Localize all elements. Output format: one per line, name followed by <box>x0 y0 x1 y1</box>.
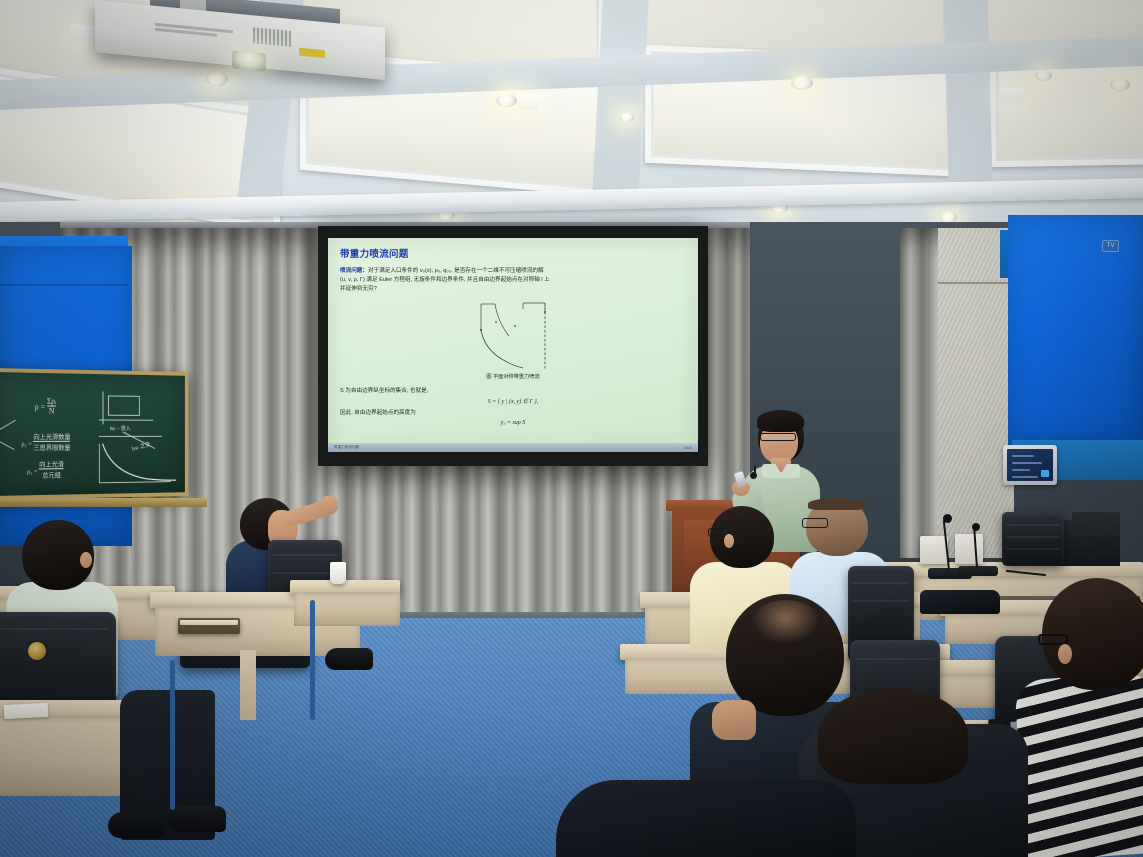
notebook-pages <box>180 620 238 625</box>
shoe-left-2 <box>168 806 226 832</box>
projector-lens <box>232 51 266 72</box>
chalkboard-formula-1: ρ = ΣρᵢN <box>35 397 56 416</box>
slide-title: 带重力喷流问题 <box>340 246 686 260</box>
audience-4-glasses <box>802 518 828 528</box>
slide-figure-caption: 图 平面对称带重力喷流 <box>340 373 686 380</box>
projector-vent-grille <box>253 27 291 47</box>
slide-paragraph-1: S 为自由边界纵坐标的集合, 也就是, <box>340 386 686 394</box>
front-table-chair[interactable] <box>1002 512 1064 566</box>
audience-3-head <box>710 506 774 568</box>
downlight-5 <box>1110 78 1130 91</box>
shoe-mid <box>325 648 373 670</box>
downlight-3 <box>496 94 517 107</box>
blackboard: ρ = ΣρᵢN ρ₁ = 向上光滑数量三思界限数量 ρ₂ = 向上光滑总元组 … <box>0 368 188 500</box>
chair-frame-left <box>170 660 175 810</box>
jet-flow-diagram-svg <box>453 300 573 372</box>
audience-3-ear <box>724 534 734 548</box>
ceiling-panel-light-3 <box>1000 88 1024 103</box>
slide-paragraph-2: 因此, 自由边界起始点的高度为 <box>340 408 686 416</box>
desk-monitor-2 <box>955 534 983 564</box>
microphone-head-1 <box>943 514 952 523</box>
microphone-head-2 <box>972 523 980 531</box>
audience-7-ear <box>1058 644 1072 664</box>
lecture-hall-scene: TV 带重力喷流问题 喷流问题：对于满足入口条件的 v₀(x), ρ₀, q₀₀… <box>0 0 1143 857</box>
slide-problem-label: 喷流问题： <box>340 268 368 274</box>
lapel-mic-wire <box>754 466 756 476</box>
ceiling-beam-vertical-3 <box>943 0 993 192</box>
downlight-1 <box>206 72 228 86</box>
projector-label <box>299 48 325 59</box>
audience-7-torso <box>1014 671 1143 857</box>
chalk-tray <box>0 498 207 507</box>
presenter-hair <box>757 410 804 432</box>
slide-problem-text-3: 并延伸到无穷? <box>340 286 377 292</box>
presenter-glasses <box>760 433 796 441</box>
desk-monitor-3 <box>1072 512 1120 566</box>
slide-body: 喷流问题：对于满足入口条件的 v₀(x), ρ₀, q₀₀, 是否存在一个二维不… <box>340 267 686 294</box>
audience-7-striped <box>1020 596 1143 857</box>
wall-control-screen[interactable] <box>1007 449 1053 481</box>
slide-footer-right: 2024 <box>684 446 692 450</box>
desk-left-mid-leg <box>240 650 256 720</box>
notebook[interactable] <box>178 618 240 634</box>
downlight-4 <box>791 76 813 90</box>
presentation-slide: 带重力喷流问题 喷流问题：对于满足入口条件的 v₀(x), ρ₀, q₀₀, 是… <box>328 238 698 452</box>
stone-pier-seam <box>938 282 1014 284</box>
shoe-left-1 <box>108 812 164 838</box>
audience-6-head <box>818 688 968 784</box>
audience-1-glasses-arm <box>26 552 44 555</box>
slide-figure-jet-flow <box>453 300 573 372</box>
ceiling-beam-vertical-2 <box>592 0 649 195</box>
slide-equation-1: S = { y | (x, y) ∈ Γ }, <box>340 398 686 405</box>
audience-5-bald-spot <box>752 600 820 644</box>
downlight-7 <box>1035 70 1052 81</box>
wall-control-panel[interactable] <box>1003 445 1057 485</box>
desk-monitor-1 <box>920 536 948 564</box>
audience-foreground-shoulder <box>556 780 856 857</box>
slide-problem-text-2: (u, v, ρ, Γ) 满足 Euler 方程组, 无旋条件和边界条件, 并且… <box>340 277 550 283</box>
chalkboard-formula-2: ρ₁ = 向上光滑数量三思界限数量 <box>21 431 70 452</box>
slide-footer: 带重力喷流问题 2024 <box>328 443 698 452</box>
wall-panel-seam <box>0 284 128 286</box>
audience-4-hair-fringe <box>808 498 866 510</box>
desk-bottom-left-front <box>0 716 126 796</box>
audience-1-ear <box>80 552 92 568</box>
downlight-11 <box>620 113 634 122</box>
tv-badge-icon: TV <box>1102 240 1119 252</box>
chalkboard-diagram-label-1: Re ~ 流入 <box>110 424 131 432</box>
paper-cup[interactable] <box>330 562 346 584</box>
microphone-base-2 <box>958 566 998 576</box>
audience-5-hand <box>712 700 756 740</box>
chalkboard-formula-3: ρ₂ = 向上光滑总元组 <box>27 458 64 479</box>
control-panel-button[interactable] <box>1041 470 1049 477</box>
projection-screen: 带重力喷流问题 喷流问题：对于满足入口条件的 v₀(x), ρ₀, q₀₀, 是… <box>318 226 708 466</box>
ceiling-panel-light-1 <box>70 23 96 42</box>
slide-equation-2: y₀ = sup S <box>340 420 686 426</box>
display-panel-blue-right <box>1008 215 1143 445</box>
chair-frame-mid <box>310 600 315 720</box>
desk-paper-sheet[interactable] <box>4 703 49 719</box>
bag-on-desk[interactable] <box>920 590 1000 614</box>
slide-problem-text-1: 对于满足入口条件的 v₀(x), ρ₀, q₀₀, 是否存在一个二维不可压缩喷流… <box>368 268 544 274</box>
slide-footer-left: 带重力喷流问题 <box>334 445 359 450</box>
audience-2-hand <box>320 496 338 514</box>
ceiling-panel-light-2 <box>515 93 539 111</box>
